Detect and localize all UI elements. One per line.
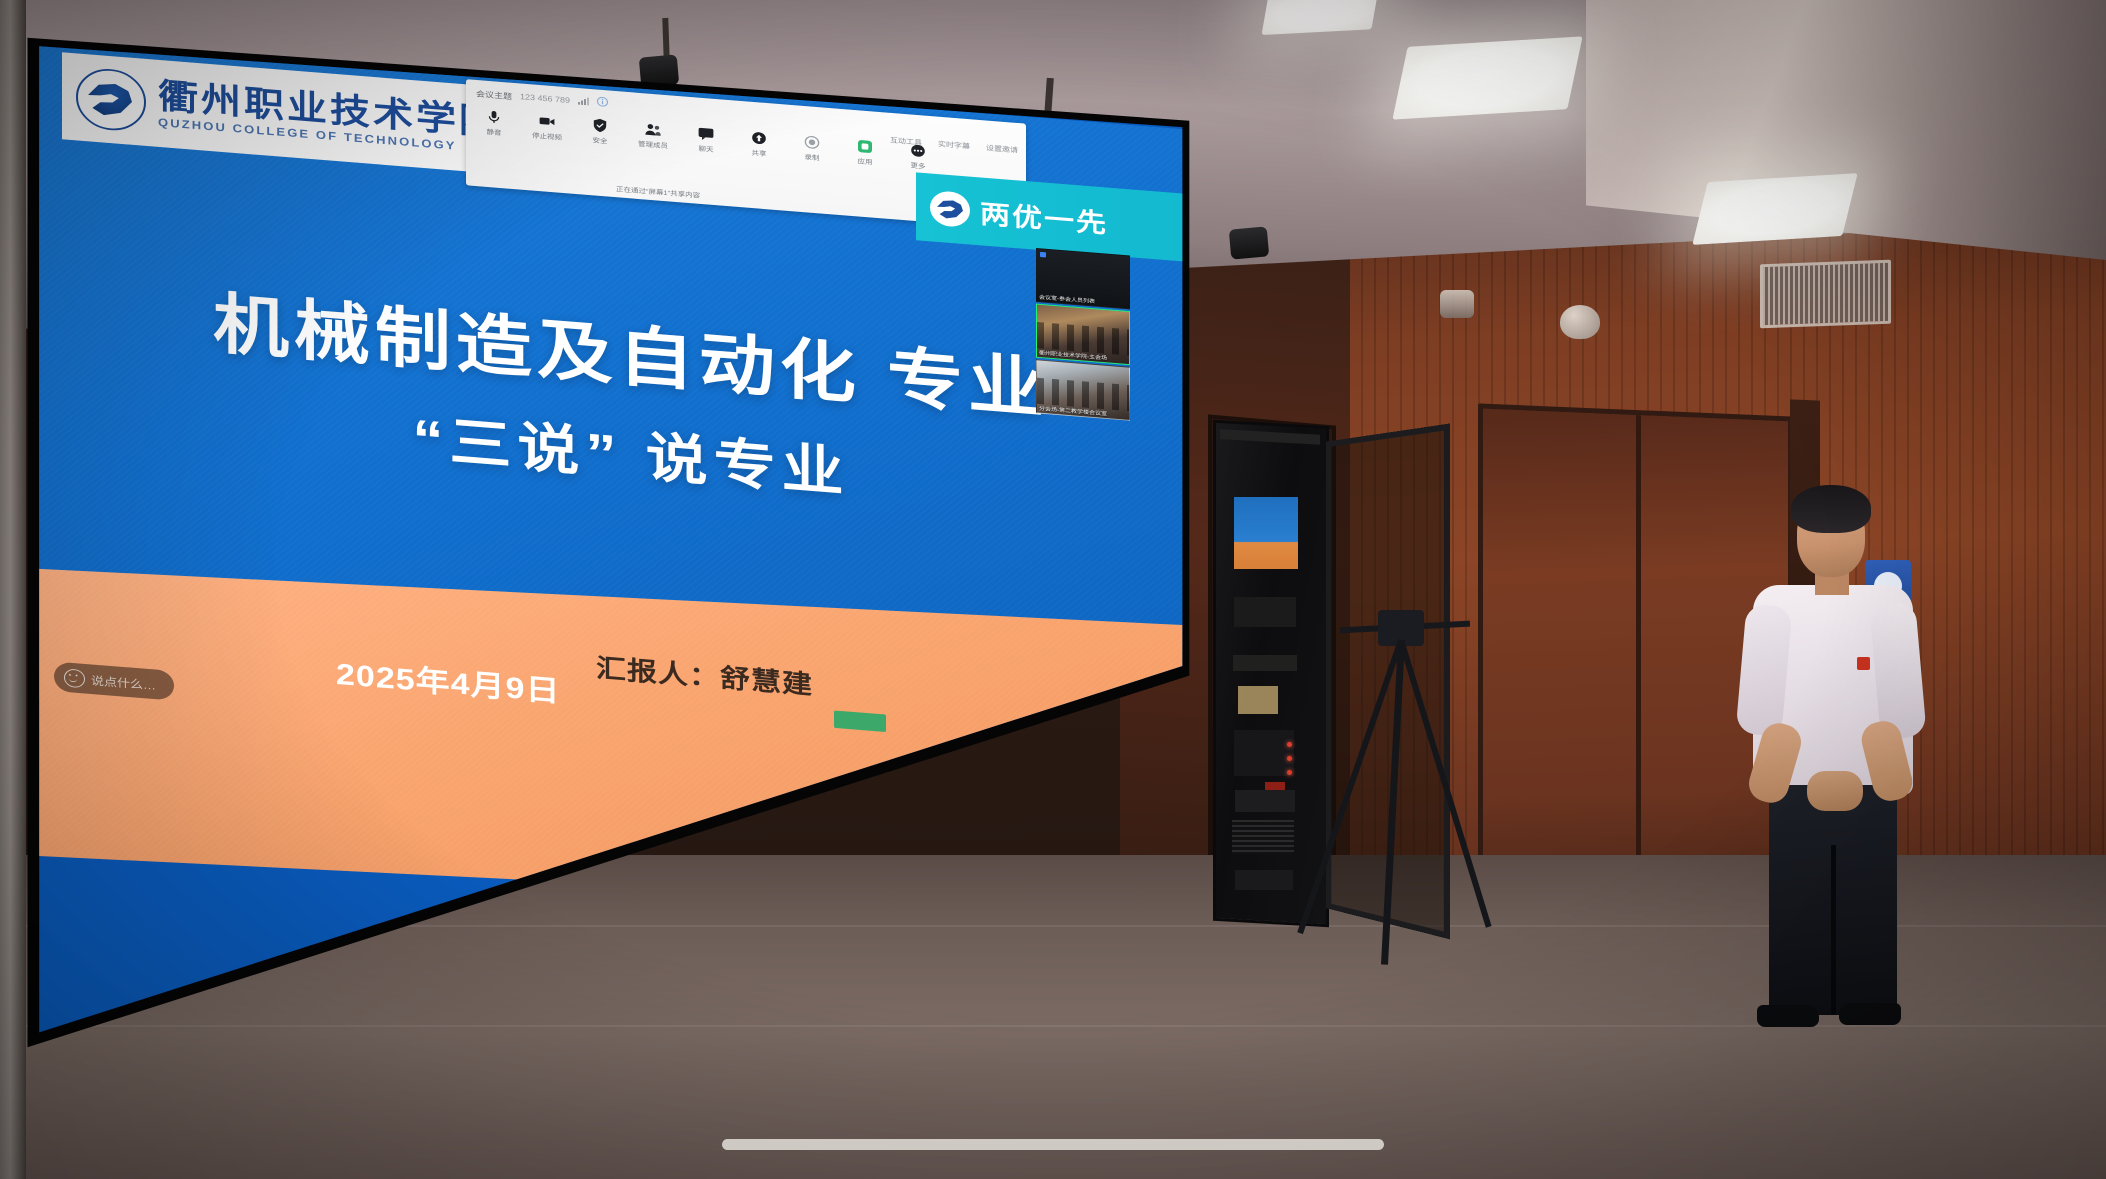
rack-module xyxy=(1235,790,1295,812)
rack-display-screen xyxy=(1234,497,1298,569)
home-indicator-bar[interactable] xyxy=(722,1139,1384,1150)
rack-module xyxy=(1234,597,1296,627)
projection-screen: 衢州职业技术学院 QUZHOU COLLEGE OF TECHNOLOGY 机械… xyxy=(24,10,1194,1075)
screenshot-root: 衢州职业技术学院 QUZHOU COLLEGE OF TECHNOLOGY 机械… xyxy=(0,0,2106,1179)
meeting-id: 123 456 789 xyxy=(520,92,570,105)
rack-module xyxy=(1233,655,1297,671)
share-label: 共享 xyxy=(752,148,767,159)
branding-band-text: 两优一先 xyxy=(980,192,1108,240)
mic-label: 静音 xyxy=(487,127,502,138)
record-icon xyxy=(803,134,821,151)
status-led-icon xyxy=(1287,742,1292,747)
security-button[interactable]: 安全 xyxy=(582,116,618,147)
more-label: 更多 xyxy=(911,161,926,172)
participant-thumbnail-list: 会议室-参会人员列表 衢州职业技术学院-主会场 分会场-第二教学楼会议室 xyxy=(1036,248,1128,421)
participants-label: 管理成员 xyxy=(638,139,668,151)
camera-icon xyxy=(538,113,556,130)
ceiling-light-panel xyxy=(1392,36,1582,119)
presenter-hands xyxy=(1807,771,1863,811)
participant-thumbnail[interactable]: 分会场-第二教学楼会议室 xyxy=(1036,359,1130,420)
apps-label: 应用 xyxy=(858,156,873,167)
share-status-text: 正在通过“屏幕1”共享内容 xyxy=(616,184,700,200)
thumbnail-status-dot-icon xyxy=(1040,252,1046,258)
rack-label xyxy=(1238,686,1278,714)
ceiling-light-panel xyxy=(1261,0,1378,35)
chat-label: 聊天 xyxy=(699,144,714,155)
status-led-icon xyxy=(1287,770,1292,775)
ceiling-light-panel xyxy=(1692,173,1857,245)
slide-orange-footer xyxy=(36,569,1194,915)
red-lapel-badge-icon xyxy=(1857,657,1870,670)
rack-vent-module xyxy=(1232,820,1294,854)
signal-icon xyxy=(578,93,589,110)
shield-icon xyxy=(591,117,609,134)
ceiling-camera-icon xyxy=(1440,290,1474,318)
participant-thumbnail[interactable]: 衢州职业技术学院-主会场 xyxy=(1036,304,1130,365)
share-button[interactable]: 共享 xyxy=(741,129,777,160)
presenter-hair xyxy=(1791,485,1871,533)
smiley-icon[interactable] xyxy=(64,668,85,688)
share-screen-icon xyxy=(750,130,768,147)
shared-slide-deck: 衢州职业技术学院 QUZHOU COLLEGE OF TECHNOLOGY 机械… xyxy=(36,38,1194,794)
screen-content-area: 衢州职业技术学院 QUZHOU COLLEGE OF TECHNOLOGY 机械… xyxy=(24,10,1194,1075)
camera-label: 停止视频 xyxy=(532,131,562,143)
participants-icon xyxy=(644,121,662,138)
apps-button[interactable]: 应用 xyxy=(847,137,883,168)
apps-icon xyxy=(856,138,874,155)
participant-thumbnail[interactable]: 会议室-参会人员列表 xyxy=(1036,248,1130,309)
chat-button[interactable]: 聊天 xyxy=(688,125,724,156)
rack-module xyxy=(1235,870,1293,890)
microphone-icon xyxy=(485,108,503,125)
status-led-icon xyxy=(1287,756,1292,761)
rack-indicator-strip xyxy=(1265,782,1285,790)
camera-button[interactable]: 停止视频 xyxy=(529,112,565,143)
meeting-topic: 会议主题 xyxy=(476,87,512,101)
presenter-leg-split xyxy=(1831,845,1836,1015)
record-button[interactable]: 录制 xyxy=(794,133,830,164)
participant-name: 会议室-参会人员列表 xyxy=(1039,293,1095,305)
air-vent-grille-icon xyxy=(1760,260,1891,329)
quzhou-college-emblem-icon xyxy=(76,66,146,132)
chat-input-placeholder: 说点什么… xyxy=(91,671,156,693)
ceiling-camera-icon xyxy=(1229,226,1269,259)
ceiling-speaker-icon xyxy=(1560,305,1600,339)
security-label: 安全 xyxy=(593,135,608,146)
mic-button[interactable]: 静音 xyxy=(476,108,512,139)
record-label: 录制 xyxy=(805,152,820,163)
college-round-logo-icon xyxy=(930,190,970,228)
info-icon[interactable] xyxy=(597,95,608,112)
presenter-person xyxy=(1735,485,1925,1045)
rack-module xyxy=(1234,730,1294,776)
presenter-shoe xyxy=(1757,1005,1819,1027)
participants-button[interactable]: 管理成员 xyxy=(635,120,671,151)
presenter-shoe xyxy=(1839,1003,1901,1025)
chat-icon xyxy=(697,125,715,142)
left-pillar xyxy=(0,0,26,1179)
